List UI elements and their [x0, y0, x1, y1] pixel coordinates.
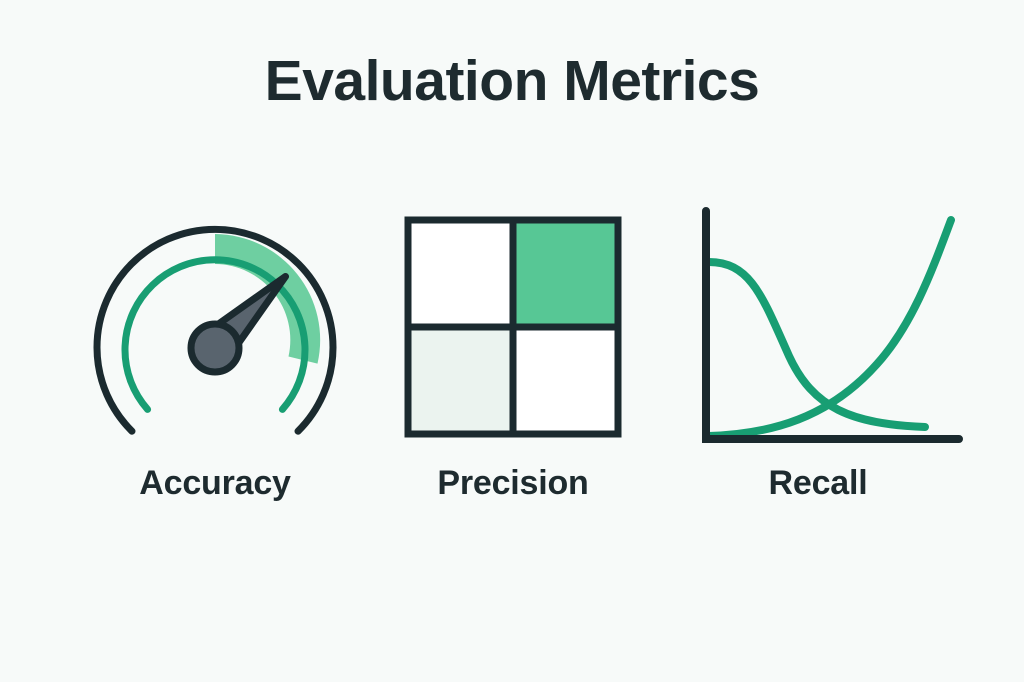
- metric-card-accuracy[interactable]: Accuracy: [55, 196, 375, 536]
- metric-card-precision[interactable]: Precision: [353, 196, 673, 536]
- curve-chart-icon: [673, 196, 963, 454]
- metric-label-accuracy: Accuracy: [55, 464, 375, 503]
- gauge-needle-hub: [191, 324, 239, 372]
- matrix-cell-top-left: [408, 220, 513, 327]
- recall-figure: [658, 196, 978, 454]
- metric-card-recall[interactable]: Recall: [658, 196, 978, 536]
- metric-label-recall: Recall: [658, 464, 978, 503]
- confusion-matrix-icon: [393, 196, 633, 454]
- gauge-icon: [70, 196, 360, 454]
- matrix-cell-bottom-left: [408, 327, 513, 434]
- accuracy-figure: [55, 196, 375, 454]
- page-title: Evaluation Metrics: [0, 50, 1024, 113]
- precision-figure: [353, 196, 673, 454]
- metrics-row: Accuracy: [0, 196, 1024, 536]
- matrix-cell-top-right: [513, 220, 618, 327]
- poster-canvas: Evaluation Metrics Accuracy: [0, 0, 1024, 682]
- metric-label-precision: Precision: [353, 464, 673, 503]
- matrix-cell-bottom-right: [513, 327, 618, 434]
- recall-curve-increasing: [709, 220, 951, 436]
